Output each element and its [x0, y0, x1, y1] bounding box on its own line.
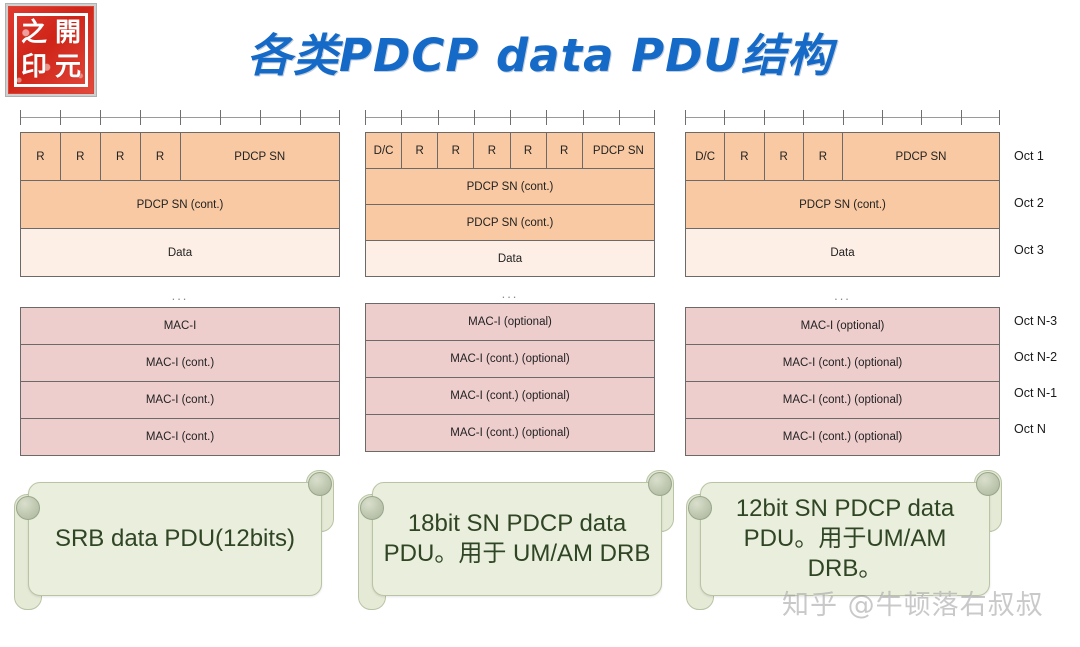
pdu-field-cell: R: [510, 133, 546, 169]
pdu-field-cell: PDCP SN (cont.): [366, 205, 655, 241]
seal-stamp-face: 之 開 印 元: [8, 6, 94, 94]
pdu-continuation-ellipsis: ...: [685, 277, 1000, 307]
ruler-tick: [260, 110, 261, 125]
octet-label: Oct N-2: [1014, 339, 1057, 375]
caption-text: 12bit SN PDCP data PDU。用于UM/AM DRB。: [700, 482, 990, 596]
ruler-tick: [843, 110, 844, 125]
pdu-field-cell: PDCP SN: [180, 133, 340, 181]
pdu-field-cell: MAC-I (cont.) (optional): [366, 415, 655, 452]
bit-ruler: [20, 108, 340, 126]
pdu-column-18bit-sn: D/CRRRRRPDCP SNPDCP SN (cont.)PDCP SN (c…: [365, 108, 655, 452]
pdu-field-cell: PDCP SN (cont.): [686, 181, 1000, 229]
pdu-mac-table: MAC-I (optional)MAC-I (cont.) (optional)…: [365, 303, 655, 452]
pdu-field-cell: PDCP SN (cont.): [21, 181, 340, 229]
pdu-field-cell: MAC-I (cont.) (optional): [366, 378, 655, 415]
octet-label: Oct 2: [1014, 179, 1044, 226]
pdu-field-row: PDCP SN (cont.): [21, 181, 340, 229]
ruler-tick: [583, 110, 584, 125]
pdu-field-cell: R: [60, 133, 100, 181]
ruler-tick: [961, 110, 962, 125]
ruler-tick: [619, 110, 620, 125]
pdu-field-row: Data: [366, 241, 655, 277]
bit-ruler: [685, 108, 1000, 126]
scroll-knob-right-icon: [976, 472, 1000, 496]
octet-label: Oct N: [1014, 411, 1046, 447]
pdu-field-cell: D/C: [366, 133, 402, 169]
ruler-tick: [510, 110, 511, 125]
scroll-knob-right-icon: [308, 472, 332, 496]
kaiyuan-seal-logo: 之 開 印 元: [5, 3, 97, 97]
pdu-field-row: D/CRRRPDCP SN: [686, 133, 1000, 181]
seal-char-2: 開: [51, 16, 85, 50]
pdu-field-row: PDCP SN (cont.): [686, 181, 1000, 229]
pdu-field-cell: R: [803, 133, 842, 181]
pdu-mac-table: MAC-I (optional)MAC-I (cont.) (optional)…: [685, 307, 1000, 456]
pdu-field-row: PDCP SN (cont.): [366, 205, 655, 241]
ruler-tick: [685, 110, 686, 125]
page-title: 各类PDCP data PDU结构: [120, 14, 960, 88]
pdu-field-row: MAC-I (cont.) (optional): [686, 382, 1000, 419]
pdu-field-row: MAC-I (optional): [366, 304, 655, 341]
ruler-tick: [882, 110, 883, 125]
pdu-header-table: D/CRRRRRPDCP SNPDCP SN (cont.)PDCP SN (c…: [365, 132, 655, 277]
pdu-field-cell: MAC-I (cont.): [21, 345, 340, 382]
pdu-field-row: MAC-I (cont.) (optional): [366, 415, 655, 452]
pdu-field-cell: MAC-I: [21, 308, 340, 345]
pdu-field-row: MAC-I (cont.) (optional): [686, 345, 1000, 382]
ruler-tick: [140, 110, 141, 125]
pdu-field-cell: MAC-I (optional): [366, 304, 655, 341]
ruler-tick: [180, 110, 181, 125]
pdu-field-cell: R: [438, 133, 474, 169]
ruler-tick: [365, 110, 366, 125]
caption-text: 18bit SN PDCP data PDU。用于 UM/AM DRB: [372, 482, 662, 596]
pdu-field-cell: R: [474, 133, 510, 169]
pdu-field-row: D/CRRRRRPDCP SN: [366, 133, 655, 169]
ruler-tick: [401, 110, 402, 125]
ruler-tick: [654, 110, 655, 125]
ruler-tick: [300, 110, 301, 125]
pdu-field-row: MAC-I (optional): [686, 308, 1000, 345]
pdu-field-cell: MAC-I (cont.) (optional): [686, 419, 1000, 456]
octet-label: Oct 3: [1014, 226, 1044, 273]
ruler-tick: [921, 110, 922, 125]
pdu-field-row: MAC-I (cont.) (optional): [686, 419, 1000, 456]
pdu-continuation-ellipsis: ...: [365, 277, 655, 303]
pdu-field-cell: R: [140, 133, 180, 181]
pdu-field-row: MAC-I (cont.) (optional): [366, 378, 655, 415]
ruler-tick: [60, 110, 61, 125]
pdu-field-row: Data: [686, 229, 1000, 277]
octet-label: Oct N-3: [1014, 303, 1057, 339]
pdu-field-row: RRRRPDCP SN: [21, 133, 340, 181]
seal-char-3: 印: [17, 50, 51, 84]
pdu-field-cell: R: [546, 133, 582, 169]
scroll-knob-left-icon: [16, 496, 40, 520]
pdu-field-cell: D/C: [686, 133, 725, 181]
pdu-field-cell: R: [402, 133, 438, 169]
pdu-header-table: D/CRRRPDCP SNPDCP SN (cont.)Data: [685, 132, 1000, 277]
pdu-field-row: MAC-I (cont.): [21, 345, 340, 382]
caption-scroll-18bit: 18bit SN PDCP data PDU。用于 UM/AM DRB: [358, 470, 674, 610]
ruler-tick: [546, 110, 547, 125]
caption-text: SRB data PDU(12bits): [28, 482, 322, 596]
pdu-field-cell: PDCP SN (cont.): [366, 169, 655, 205]
pdu-field-cell: MAC-I (optional): [686, 308, 1000, 345]
pdu-mac-table: MAC-IMAC-I (cont.)MAC-I (cont.)MAC-I (co…: [20, 307, 340, 456]
pdu-field-cell: Data: [366, 241, 655, 277]
pdu-field-cell: R: [100, 133, 140, 181]
ruler-tick: [999, 110, 1000, 125]
ruler-tick: [438, 110, 439, 125]
pdu-column-srb: RRRRPDCP SNPDCP SN (cont.)Data...MAC-IMA…: [20, 108, 340, 456]
scroll-knob-left-icon: [688, 496, 712, 520]
bit-ruler: [365, 108, 655, 126]
pdu-field-cell: PDCP SN: [843, 133, 1000, 181]
ruler-tick: [474, 110, 475, 125]
octet-label-list: Oct 1Oct 2Oct 3Oct N-3Oct N-2Oct N-1Oct …: [1014, 108, 1080, 508]
pdu-field-cell: R: [725, 133, 764, 181]
seal-characters: 之 開 印 元: [14, 13, 88, 87]
pdu-field-cell: MAC-I (cont.) (optional): [686, 382, 1000, 419]
ruler-tick: [724, 110, 725, 125]
pdu-field-cell: R: [764, 133, 803, 181]
pdu-field-row: MAC-I (cont.) (optional): [366, 341, 655, 378]
pdu-field-row: MAC-I (cont.): [21, 419, 340, 456]
site-watermark: 知乎 @牛顿落右叔叔: [782, 583, 1044, 622]
pdu-field-cell: Data: [21, 229, 340, 277]
ruler-tick: [764, 110, 765, 125]
pdu-continuation-ellipsis: ...: [20, 277, 340, 307]
pdu-field-cell: MAC-I (cont.) (optional): [686, 345, 1000, 382]
ruler-tick: [20, 110, 21, 125]
pdu-field-row: MAC-I (cont.): [21, 382, 340, 419]
scroll-knob-right-icon: [648, 472, 672, 496]
pdu-field-cell: MAC-I (cont.): [21, 419, 340, 456]
scroll-knob-left-icon: [360, 496, 384, 520]
seal-char-4: 元: [51, 50, 85, 84]
ruler-tick: [339, 110, 340, 125]
caption-scroll-srb: SRB data PDU(12bits): [14, 470, 334, 610]
pdu-field-cell: MAC-I (cont.): [21, 382, 340, 419]
pdu-field-cell: Data: [686, 229, 1000, 277]
pdu-field-cell: MAC-I (cont.) (optional): [366, 341, 655, 378]
pdu-field-cell: R: [21, 133, 61, 181]
ruler-tick: [220, 110, 221, 125]
pdu-header-table: RRRRPDCP SNPDCP SN (cont.)Data: [20, 132, 340, 277]
octet-label: Oct 1: [1014, 132, 1044, 179]
pdu-field-cell: PDCP SN: [582, 133, 654, 169]
seal-char-1: 之: [17, 16, 51, 50]
pdu-field-row: MAC-I: [21, 308, 340, 345]
octet-label: Oct N-1: [1014, 375, 1057, 411]
ruler-tick: [803, 110, 804, 125]
pdu-field-row: Data: [21, 229, 340, 277]
pdu-field-row: PDCP SN (cont.): [366, 169, 655, 205]
ruler-tick: [100, 110, 101, 125]
pdu-column-12bit-sn: D/CRRRPDCP SNPDCP SN (cont.)Data...MAC-I…: [685, 108, 1000, 456]
